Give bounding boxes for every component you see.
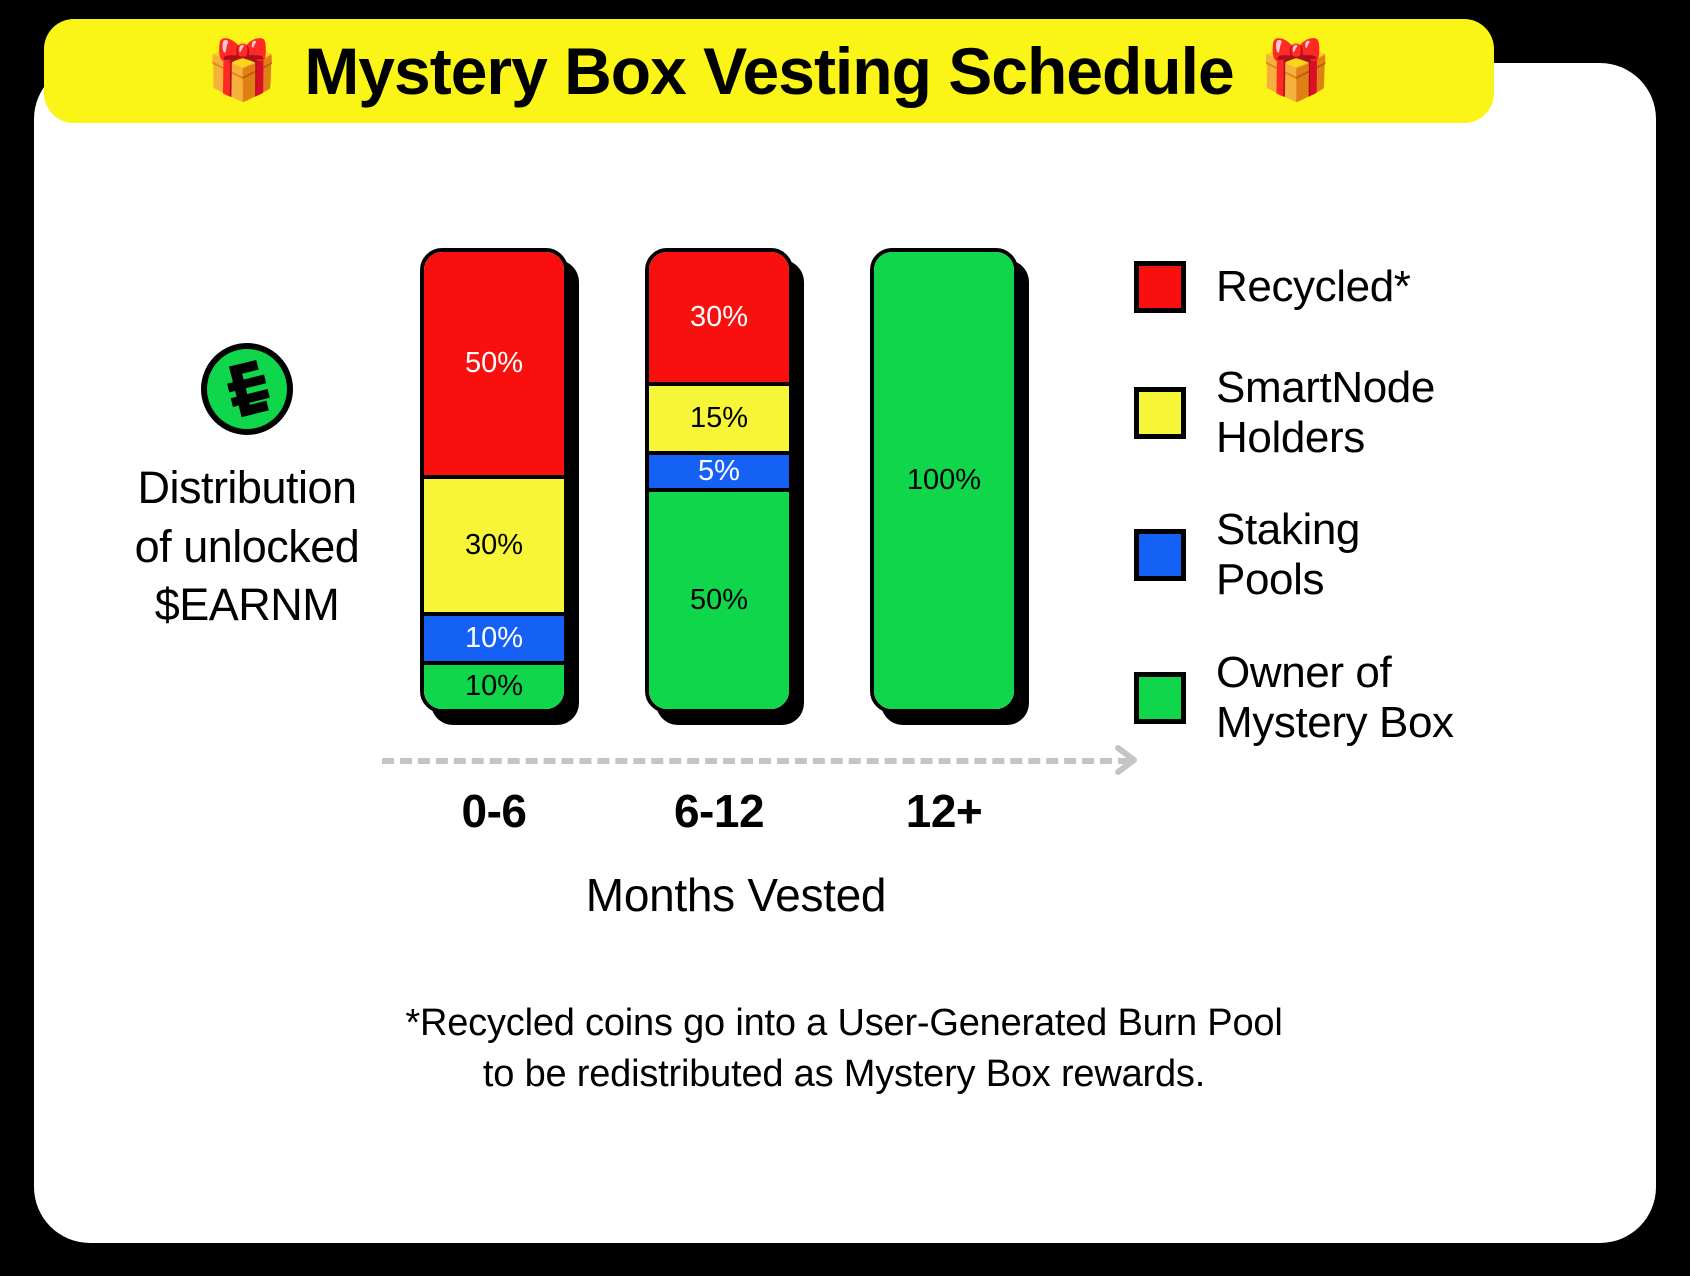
bar-segment-recycled: 30%	[649, 252, 789, 382]
axis-tick-12-plus: 12+	[844, 784, 1044, 838]
legend-swatch-smartnode	[1134, 387, 1186, 439]
caption-line-2: of unlocked	[82, 518, 412, 577]
legend-swatch-staking	[1134, 529, 1186, 581]
axis-tick-0-6: 0-6	[394, 784, 594, 838]
segment-value-label: 50%	[465, 347, 523, 380]
distribution-caption: Distribution of unlocked $EARNM	[82, 459, 412, 635]
bar-segment-recycled: 50%	[424, 252, 564, 475]
legend-item-staking-pools[interactable]: StakingPools	[1134, 505, 1604, 605]
stacked-bar-chart: 50%30%10%10%30%15%5%50%100% 0-6 6-12 12+…	[364, 248, 1154, 948]
legend-item-label: Owner ofMystery Box	[1216, 648, 1454, 748]
bar-segment-smartnode-holders: 30%	[424, 475, 564, 613]
legend-label-line-2: Pools	[1216, 555, 1360, 605]
distribution-label-block: Distribution of unlocked $EARNM	[82, 343, 412, 635]
segment-value-label: 50%	[690, 584, 748, 617]
legend-label-line-1: Owner of	[1216, 648, 1454, 698]
legend-label-line-1: SmartNode	[1216, 363, 1435, 413]
legend-item-recycled[interactable]: Recycled*	[1134, 253, 1604, 321]
bar-segment-owner-of-mystery-box: 10%	[424, 661, 564, 710]
segment-value-label: 5%	[698, 455, 740, 488]
legend-swatch-owner	[1134, 672, 1186, 724]
bar-segment-smartnode-holders: 15%	[649, 382, 789, 451]
footnote-line-2: to be redistributed as Mystery Box rewar…	[144, 1049, 1544, 1100]
legend-item-label: SmartNodeHolders	[1216, 363, 1435, 463]
segment-value-label: 30%	[465, 529, 523, 562]
bar-stack: 100%	[870, 248, 1018, 713]
segment-value-label: 10%	[465, 622, 523, 655]
bar-stack: 50%30%10%10%	[420, 248, 568, 713]
segment-value-label: 100%	[907, 464, 981, 497]
bar-segment-owner-of-mystery-box: 50%	[649, 488, 789, 709]
legend-label-line-2: Holders	[1216, 413, 1435, 463]
bar-6-12: 30%15%5%50%	[645, 248, 793, 713]
axis-dashed-line	[382, 758, 1130, 768]
footnote-line-1: *Recycled coins go into a User-Generated…	[144, 998, 1544, 1049]
segment-value-label: 10%	[465, 670, 523, 703]
bar-12+: 100%	[870, 248, 1018, 713]
content-card: 50%30%10%10%30%15%5%50%100% 0-6 6-12 12+…	[34, 63, 1656, 1243]
caption-line-1: Distribution	[82, 459, 412, 518]
legend-label-line-1: Staking	[1216, 505, 1360, 555]
bar-segment-owner-of-mystery-box: 100%	[874, 252, 1014, 709]
page-title: Mystery Box Vesting Schedule	[304, 38, 1233, 104]
bar-0-6: 50%30%10%10%	[420, 248, 568, 713]
footnote: *Recycled coins go into a User-Generated…	[144, 998, 1544, 1101]
axis-title: Months Vested	[364, 868, 1108, 922]
legend-item-label: StakingPools	[1216, 505, 1360, 605]
chart-legend: Recycled*SmartNodeHoldersStakingPoolsOwn…	[1134, 253, 1604, 790]
bars-row: 50%30%10%10%30%15%5%50%100%	[364, 248, 1004, 718]
axis-tick-6-12: 6-12	[619, 784, 819, 838]
legend-item-label: Recycled*	[1216, 262, 1411, 312]
legend-item-smartnode-holders[interactable]: SmartNodeHolders	[1134, 363, 1604, 463]
earnm-coin-icon	[201, 343, 293, 435]
infographic-root: 50%30%10%10%30%15%5%50%100% 0-6 6-12 12+…	[0, 0, 1690, 1276]
bar-segment-staking-pools: 10%	[424, 612, 564, 661]
bar-segment-staking-pools: 5%	[649, 451, 789, 488]
legend-label-line-2: Mystery Box	[1216, 698, 1454, 748]
legend-swatch-recycled	[1134, 261, 1186, 313]
segment-value-label: 30%	[690, 301, 748, 334]
gift-box-icon-left: 🎁	[206, 42, 278, 100]
segment-value-label: 15%	[690, 402, 748, 435]
bar-stack: 30%15%5%50%	[645, 248, 793, 713]
gift-box-icon-right: 🎁	[1260, 42, 1332, 100]
title-banner: 🎁 Mystery Box Vesting Schedule 🎁	[44, 19, 1494, 123]
legend-item-owner-of-mystery-box[interactable]: Owner ofMystery Box	[1134, 648, 1604, 748]
caption-line-3: $EARNM	[82, 576, 412, 635]
